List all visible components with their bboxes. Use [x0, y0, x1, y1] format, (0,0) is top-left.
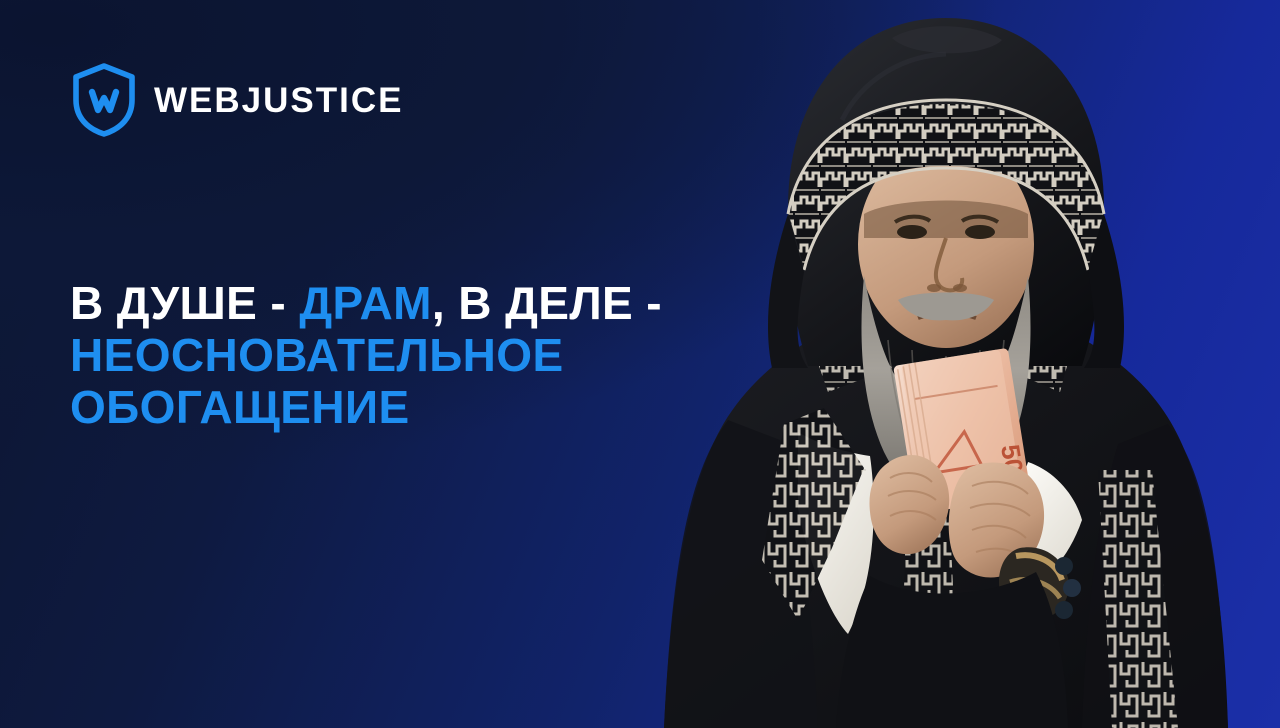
- promo-banner: 5000: [0, 0, 1280, 728]
- headline-line-2: НЕОСНОВАТЕЛЬНОЕ: [70, 329, 810, 381]
- eye-left: [897, 225, 927, 239]
- shield-w-icon: [70, 62, 138, 138]
- headline-line-3: ОБОГАЩЕНИЕ: [70, 381, 810, 433]
- brand-logo[interactable]: WEBJUSTICE: [70, 62, 403, 138]
- eye-right: [965, 225, 995, 239]
- brand-name: WEBJUSTICE: [154, 83, 403, 118]
- headline: В ДУШЕ - ДРАМ, В ДЕЛЕ - НЕОСНОВАТЕЛЬНОЕ …: [70, 277, 810, 434]
- headline-line-1: В ДУШЕ - ДРАМ, В ДЕЛЕ -: [70, 277, 810, 329]
- headline-line1-part2: , В ДЕЛЕ -: [432, 277, 662, 329]
- headline-line1-accent: ДРАМ: [299, 277, 432, 329]
- headline-line1-part1: В ДУШЕ -: [70, 277, 299, 329]
